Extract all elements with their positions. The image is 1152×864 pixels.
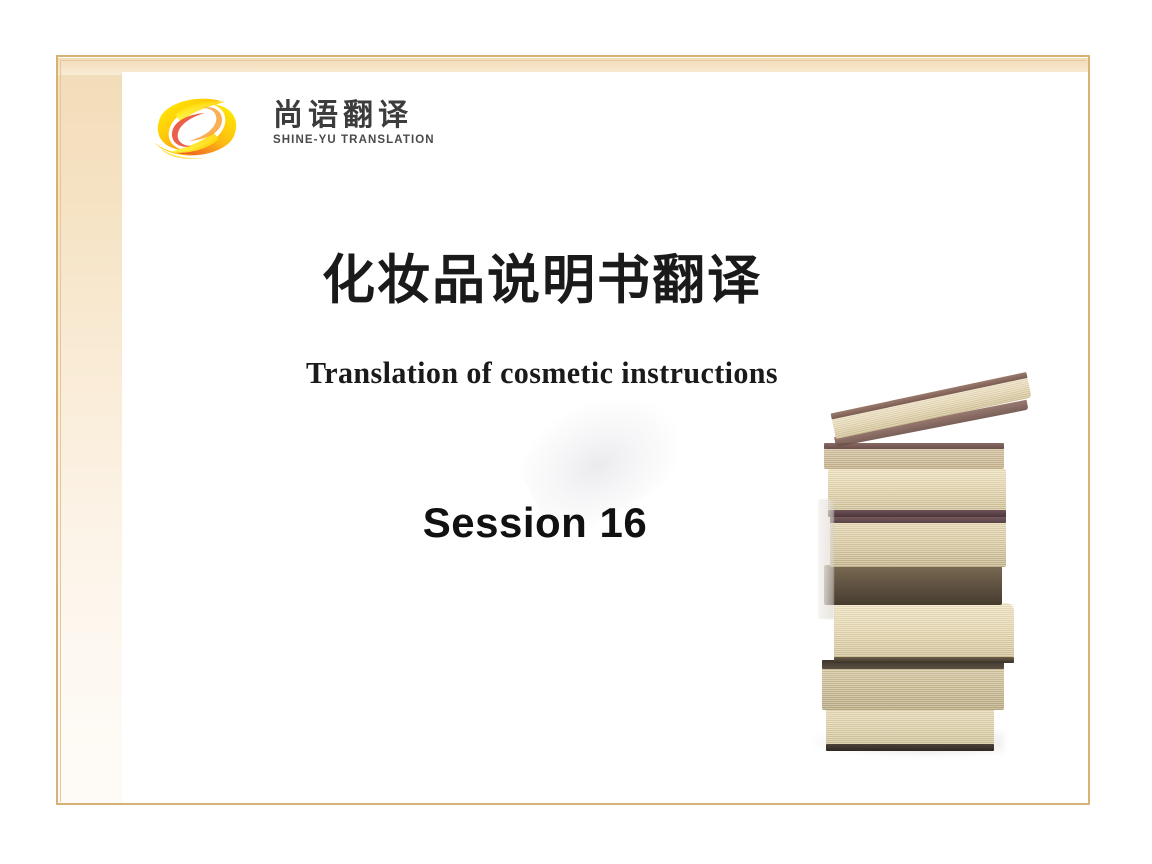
book-cover	[834, 657, 1014, 663]
logo-chinese-name: 尚语翻译	[273, 101, 463, 131]
book-4	[824, 565, 1002, 605]
book-7	[826, 707, 994, 751]
logo-wordmark: 尚语翻译 SHINE-YU TRANSLATION	[273, 101, 463, 146]
company-logo: 尚语翻译 SHINE-YU TRANSLATION	[145, 85, 465, 165]
book-cover	[826, 744, 994, 751]
book-cover	[828, 510, 1006, 517]
presentation-slide: 尚语翻译 SHINE-YU TRANSLATION 化妆品说明书翻译 Trans…	[0, 0, 1152, 864]
logo-english-name: SHINE-YU TRANSLATION	[273, 134, 463, 146]
book-pages	[834, 603, 1014, 663]
book-2	[828, 469, 1006, 517]
book-spine-highlight	[818, 499, 834, 619]
book-6	[822, 660, 1004, 710]
page-title-chinese: 化妆品说明书翻译	[122, 252, 962, 310]
book-5	[834, 603, 1014, 663]
stack-of-books-photo	[812, 407, 1067, 779]
page-subtitle-english: Translation of cosmetic instructions	[135, 355, 950, 391]
shine-yu-swirl-logo-icon	[145, 91, 249, 163]
book-1	[824, 443, 1004, 469]
slide-content-area: 尚语翻译 SHINE-YU TRANSLATION 化妆品说明书翻译 Trans…	[122, 72, 1088, 803]
book-3	[830, 515, 1006, 567]
